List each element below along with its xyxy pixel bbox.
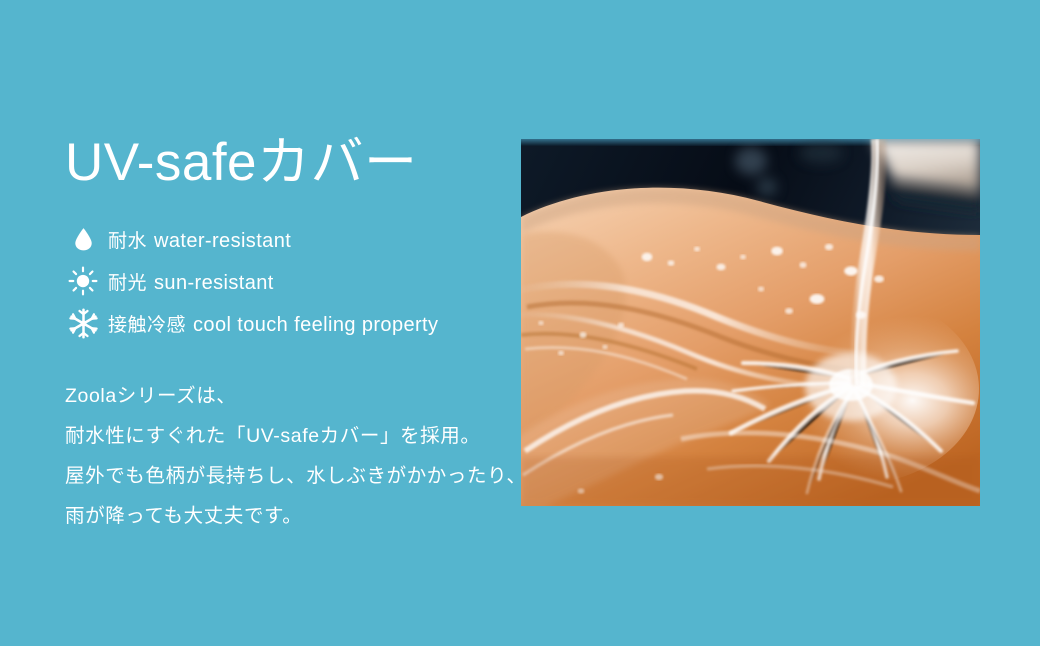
feature-label-en: water-resistant [154,230,291,252]
feature-label-en: cool touch feeling property [193,314,438,336]
hero-banner: UV-safeカバー 耐水water-resistant [0,0,1040,646]
body-line: 屋外でも色柄が長持ちし、水しぶきがかかったり、 [65,456,515,496]
feature-label-jp: 耐水 [108,231,147,252]
page-title: UV-safeカバー [65,133,515,192]
feature-item-cool-touch: 接触冷感cool touch feeling property [65,302,515,344]
body-paragraph: Zoolaシリーズは、 耐水性にすぐれた「UV-safeカバー」を採用。 屋外で… [65,376,515,536]
body-line: 耐水性にすぐれた「UV-safeカバー」を採用。 [65,416,515,456]
feature-item-water-resistant: 耐水water-resistant [65,218,515,260]
feature-label: 耐水water-resistant [108,226,291,253]
sun-icon [65,265,101,297]
water-repellent-fabric-photo [521,139,980,506]
water-drop-icon [65,223,101,255]
body-line: Zoolaシリーズは、 [65,376,515,416]
feature-label: 接触冷感cool touch feeling property [108,310,438,337]
content-column: UV-safeカバー 耐水water-resistant [65,133,515,536]
feature-label: 耐光sun-resistant [108,268,274,295]
feature-label-jp: 接触冷感 [108,315,186,336]
feature-label-jp: 耐光 [108,273,147,294]
body-line: 雨が降っても大丈夫です。 [65,496,515,536]
feature-item-sun-resistant: 耐光sun-resistant [65,260,515,302]
feature-list: 耐水water-resistant [65,218,515,344]
feature-label-en: sun-resistant [154,272,274,294]
snowflake-icon [65,307,101,339]
